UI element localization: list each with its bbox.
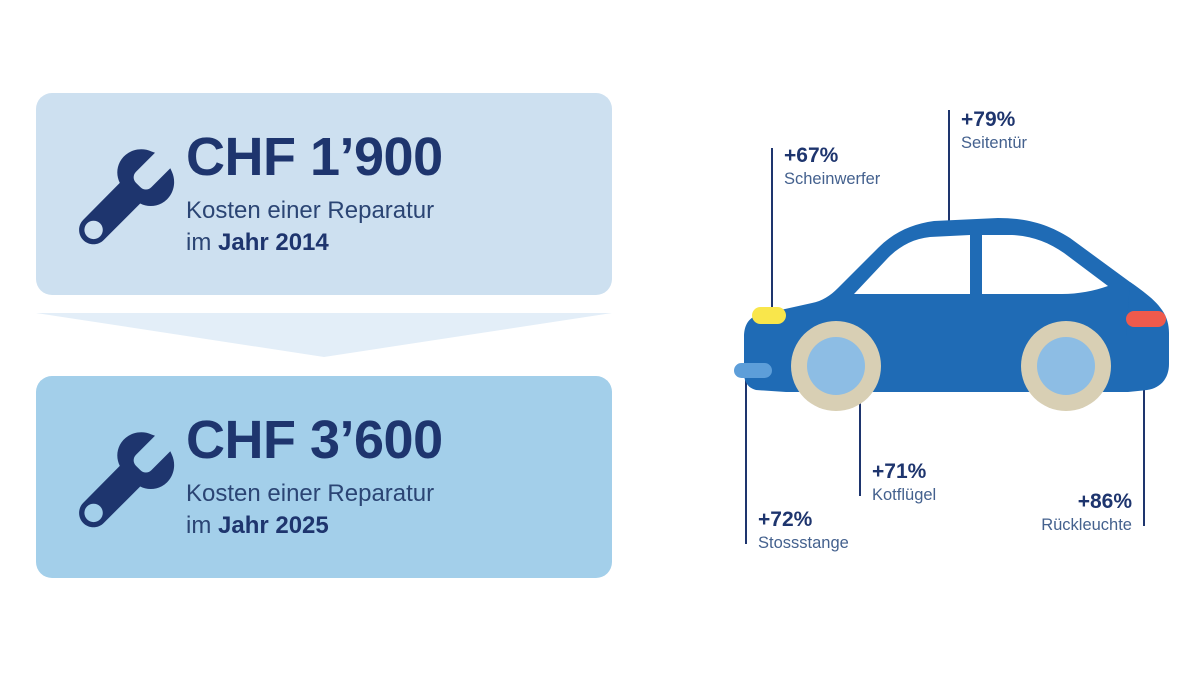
- caption-2014-line1: Kosten einer Reparatur: [186, 197, 434, 224]
- callout-seitentuer-percent: +79%: [961, 108, 1016, 131]
- callout-scheinwerfer-percent: +67%: [784, 144, 839, 167]
- callout-stossstange: +72% Stossstange: [758, 508, 849, 552]
- callout-seitentuer-part: Seitentür: [961, 134, 1028, 152]
- caption-2025-year: Jahr 2025: [218, 512, 329, 539]
- amount-2014: CHF 1’900: [186, 130, 592, 185]
- caption-2014-year: Jahr 2014: [218, 229, 329, 256]
- callout-stossstange-part: Stossstange: [758, 534, 849, 552]
- wrench-icon: [36, 134, 186, 254]
- front-wheel: [791, 321, 881, 411]
- callout-rueckleuchte: +86% Rückleuchte: [1041, 490, 1132, 534]
- wrench-icon: [36, 417, 186, 537]
- callout-kotfluegel-percent: +71%: [872, 460, 927, 483]
- callout-rueckleuchte-part: Rückleuchte: [1041, 516, 1132, 534]
- cost-card-2014-text: CHF 1’900 Kosten einer Reparatur im Jahr…: [186, 130, 612, 257]
- caption-2025: Kosten einer Reparatur im Jahr 2025: [186, 478, 592, 540]
- car-parts-diagram: +67% Scheinwerfer +79% Seitentür +71% Ko…: [726, 96, 1188, 582]
- callout-stossstange-percent: +72%: [758, 508, 813, 531]
- amount-2025: CHF 3’600: [186, 413, 592, 468]
- callout-scheinwerfer: +67% Scheinwerfer: [784, 144, 881, 188]
- callout-seitentuer: +79% Seitentür: [961, 108, 1028, 152]
- callout-kotfluegel: +71% Kotflügel: [872, 460, 936, 504]
- taillight-marker: [1126, 311, 1166, 327]
- caption-2025-line1: Kosten einer Reparatur: [186, 480, 434, 507]
- transition-arrow-icon: [36, 313, 612, 357]
- rear-wheel: [1021, 321, 1111, 411]
- cost-card-2025: CHF 3’600 Kosten einer Reparatur im Jahr…: [36, 376, 612, 578]
- cost-card-2025-text: CHF 3’600 Kosten einer Reparatur im Jahr…: [186, 413, 612, 540]
- caption-2014: Kosten einer Reparatur im Jahr 2014: [186, 195, 592, 257]
- callout-kotfluegel-part: Kotflügel: [872, 486, 936, 504]
- infographic-root: CHF 1’900 Kosten einer Reparatur im Jahr…: [0, 0, 1200, 675]
- headlight-marker: [752, 307, 786, 324]
- caption-2025-line2-prefix: im: [186, 512, 218, 539]
- cost-card-2014: CHF 1’900 Kosten einer Reparatur im Jahr…: [36, 93, 612, 295]
- caption-2014-line2-prefix: im: [186, 229, 218, 256]
- front-bumper-marker: [734, 363, 772, 378]
- callout-rueckleuchte-percent: +86%: [1078, 490, 1133, 513]
- callout-scheinwerfer-part: Scheinwerfer: [784, 170, 881, 188]
